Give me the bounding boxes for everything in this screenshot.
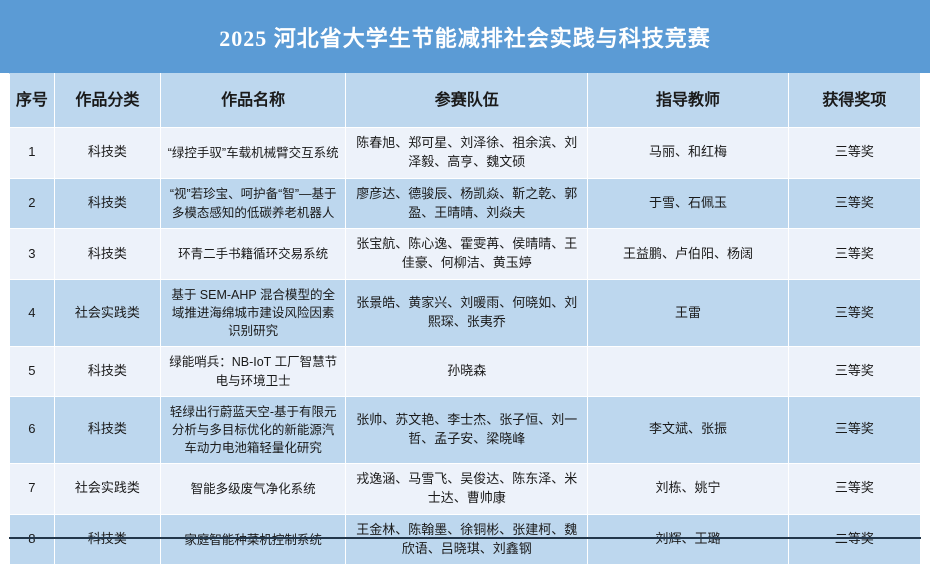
column-header-advisors: 指导教师	[588, 74, 789, 128]
cell-advisors: 于雪、石佩玉	[588, 178, 789, 229]
cell-work-name: 环青二手书籍循环交易系统	[161, 229, 346, 280]
cell-index: 1	[10, 128, 55, 179]
cell-work-name: “视”若珍宝、呵护备“智”—基于多模态感知的低碳养老机器人	[161, 178, 346, 229]
award-table: 序号 作品分类 作品名称 参赛队伍 指导教师 获得奖项 1科技类“绿控手驭”车载…	[9, 73, 921, 565]
cell-index: 2	[10, 178, 55, 229]
cell-award: 三等奖	[788, 396, 920, 463]
column-header-category: 作品分类	[54, 74, 160, 128]
cell-category: 科技类	[54, 514, 160, 565]
title-bar: 2025 河北省大学生节能减排社会实践与科技竞赛	[0, 0, 930, 73]
cell-award: 三等奖	[788, 178, 920, 229]
cell-index: 3	[10, 229, 55, 280]
cell-advisors	[588, 347, 789, 396]
cell-category: 科技类	[54, 178, 160, 229]
cell-advisors: 刘辉、王璐	[588, 514, 789, 565]
cell-team: 张景皓、黄家兴、刘暖雨、何晓如、刘熙琛、张夷乔	[346, 280, 588, 347]
cell-team: 廖彦达、德骏辰、杨凯焱、靳之乾、郭盈、王晴晴、刘焱夫	[346, 178, 588, 229]
award-table-container: 序号 作品分类 作品名称 参赛队伍 指导教师 获得奖项 1科技类“绿控手驭”车载…	[9, 73, 921, 565]
cell-advisors: 王雷	[588, 280, 789, 347]
cell-advisors: 李文斌、张振	[588, 396, 789, 463]
cell-category: 社会实践类	[54, 280, 160, 347]
cell-team: 张帅、苏文艳、李士杰、张子恒、刘一哲、孟子安、梁晓峰	[346, 396, 588, 463]
cell-index: 6	[10, 396, 55, 463]
table-row: 3科技类环青二手书籍循环交易系统张宝航、陈心逸、霍雯苒、侯晴晴、王佳豪、何柳洁、…	[10, 229, 921, 280]
cell-team: 王金林、陈翰墨、徐铜彬、张建柯、魏欣语、吕晓琪、刘鑫钢	[346, 514, 588, 565]
cell-index: 5	[10, 347, 55, 396]
cell-category: 科技类	[54, 229, 160, 280]
cell-index: 4	[10, 280, 55, 347]
cell-advisors: 马丽、和红梅	[588, 128, 789, 179]
table-row: 4社会实践类基于 SEM-AHP 混合模型的全域推进海绵城市建设风险因素识别研究…	[10, 280, 921, 347]
cell-award: 三等奖	[788, 128, 920, 179]
cell-team: 孙晓森	[346, 347, 588, 396]
cell-award: 二等奖	[788, 514, 920, 565]
table-row: 1科技类“绿控手驭”车载机械臂交互系统陈春旭、郑可星、刘泽徐、祖余滨、刘泽毅、高…	[10, 128, 921, 179]
cell-team: 张宝航、陈心逸、霍雯苒、侯晴晴、王佳豪、何柳洁、黄玉婷	[346, 229, 588, 280]
table-header: 序号 作品分类 作品名称 参赛队伍 指导教师 获得奖项	[10, 74, 921, 128]
table-row: 5科技类绿能哨兵：NB-IoT 工厂智慧节电与环境卫士孙晓森三等奖	[10, 347, 921, 396]
cell-work-name: 智能多级废气净化系统	[161, 464, 346, 515]
cell-team: 戎逸涵、马雪飞、吴俊达、陈东泽、米士达、曹帅康	[346, 464, 588, 515]
cell-category: 科技类	[54, 396, 160, 463]
cell-team: 陈春旭、郑可星、刘泽徐、祖余滨、刘泽毅、高亨、魏文硕	[346, 128, 588, 179]
table-body: 1科技类“绿控手驭”车载机械臂交互系统陈春旭、郑可星、刘泽徐、祖余滨、刘泽毅、高…	[10, 128, 921, 565]
column-header-index: 序号	[10, 74, 55, 128]
cell-award: 三等奖	[788, 280, 920, 347]
column-header-work-name: 作品名称	[161, 74, 346, 128]
cell-category: 科技类	[54, 128, 160, 179]
cell-category: 社会实践类	[54, 464, 160, 515]
cell-award: 三等奖	[788, 347, 920, 396]
cell-work-name: “绿控手驭”车载机械臂交互系统	[161, 128, 346, 179]
cell-work-name: 轻绿出行蔚蓝天空-基于有限元分析与多目标优化的新能源汽车动力电池箱轻量化研究	[161, 396, 346, 463]
cell-index: 7	[10, 464, 55, 515]
cell-work-name: 基于 SEM-AHP 混合模型的全域推进海绵城市建设风险因素识别研究	[161, 280, 346, 347]
page-title: 2025 河北省大学生节能减排社会实践与科技竞赛	[219, 21, 711, 53]
cell-index: 8	[10, 514, 55, 565]
cell-award: 三等奖	[788, 229, 920, 280]
cell-advisors: 王益鹏、卢伯阳、杨阔	[588, 229, 789, 280]
cell-work-name: 绿能哨兵：NB-IoT 工厂智慧节电与环境卫士	[161, 347, 346, 396]
column-header-team: 参赛队伍	[346, 74, 588, 128]
table-row: 2科技类“视”若珍宝、呵护备“智”—基于多模态感知的低碳养老机器人廖彦达、德骏辰…	[10, 178, 921, 229]
cell-advisors: 刘栋、姚宁	[588, 464, 789, 515]
table-header-row: 序号 作品分类 作品名称 参赛队伍 指导教师 获得奖项	[10, 74, 921, 128]
cell-category: 科技类	[54, 347, 160, 396]
cell-work-name: 家庭智能种菜机控制系统	[161, 514, 346, 565]
column-header-award: 获得奖项	[788, 74, 920, 128]
page-root: 2025 河北省大学生节能减排社会实践与科技竞赛 序号 作品分类 作品名称 参赛…	[0, 0, 930, 541]
table-row: 8科技类家庭智能种菜机控制系统王金林、陈翰墨、徐铜彬、张建柯、魏欣语、吕晓琪、刘…	[10, 514, 921, 565]
table-row: 7社会实践类智能多级废气净化系统戎逸涵、马雪飞、吴俊达、陈东泽、米士达、曹帅康刘…	[10, 464, 921, 515]
table-row: 6科技类轻绿出行蔚蓝天空-基于有限元分析与多目标优化的新能源汽车动力电池箱轻量化…	[10, 396, 921, 463]
cell-award: 三等奖	[788, 464, 920, 515]
table-bottom-rule	[9, 537, 921, 539]
